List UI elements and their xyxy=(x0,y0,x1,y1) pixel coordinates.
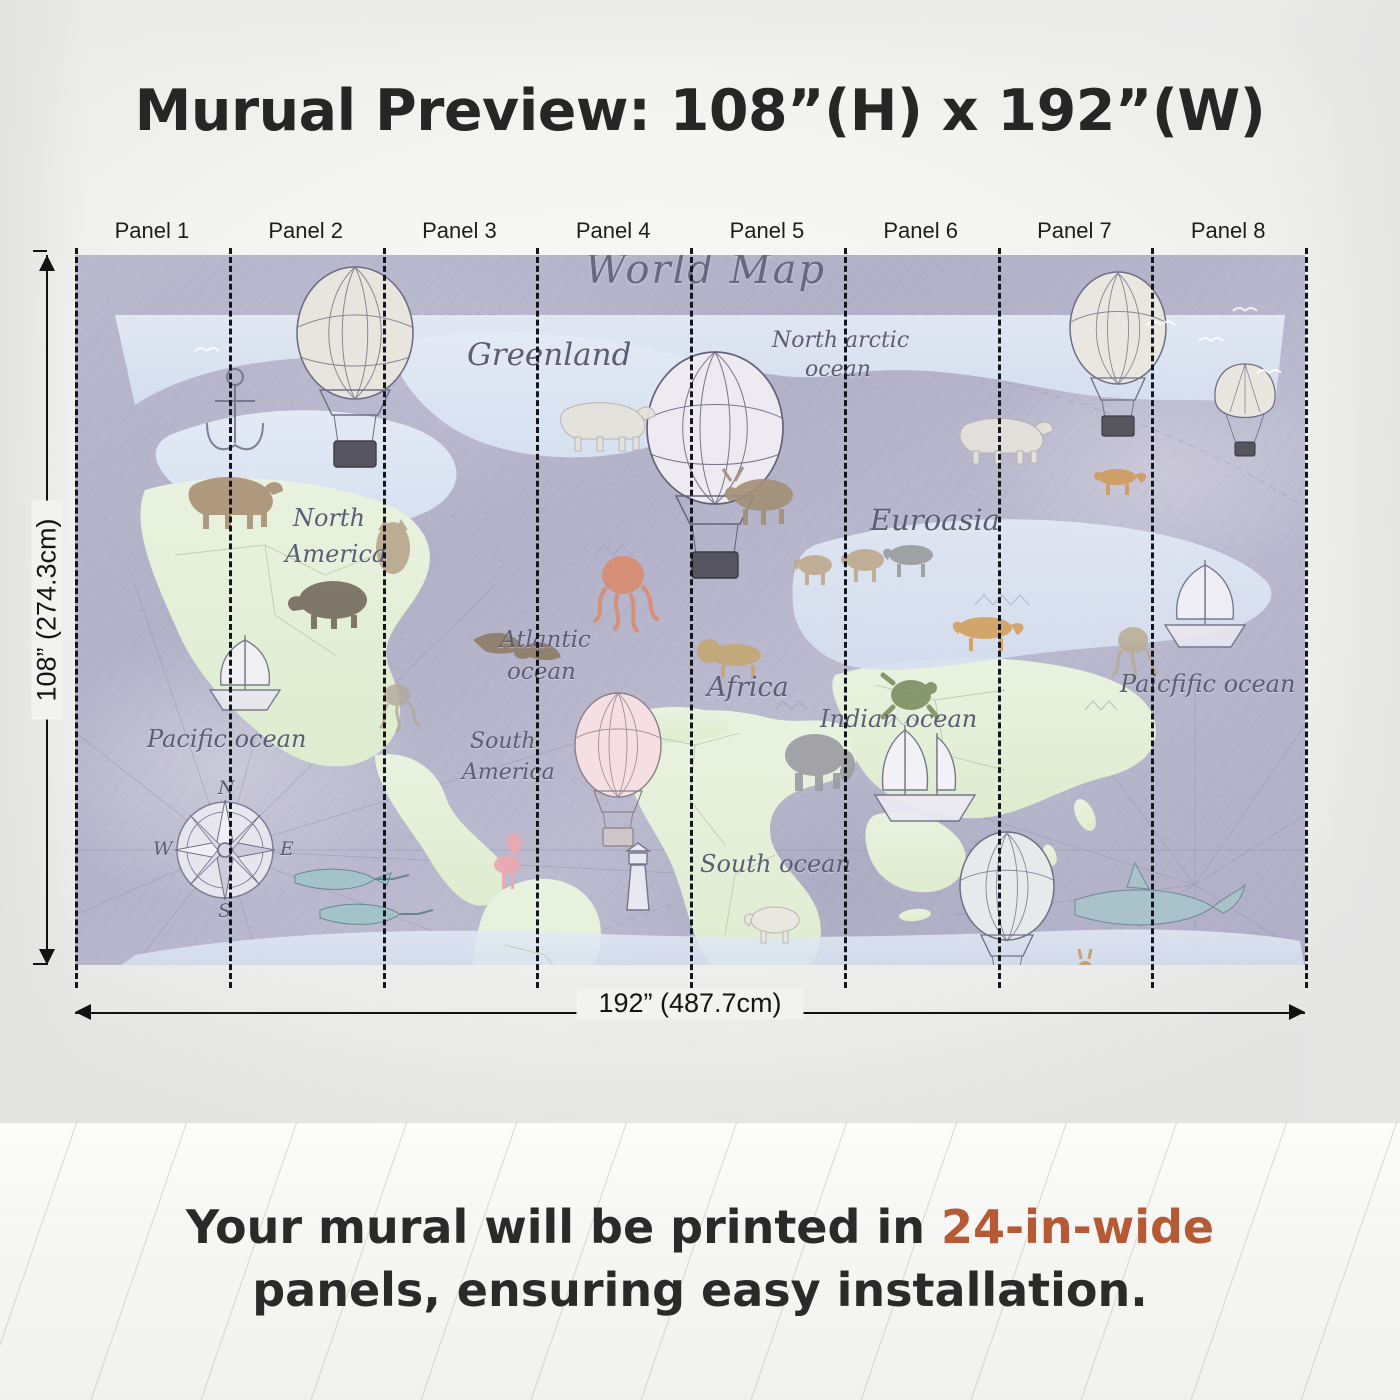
height-dimension-label: 108” (274.3cm) xyxy=(32,500,63,719)
panel-label-4: Panel 4 xyxy=(536,214,690,248)
height-tick-top xyxy=(33,250,47,252)
panel-divider-3 xyxy=(536,248,539,988)
panel-divider-2 xyxy=(383,248,386,988)
label-greenland: Greenland xyxy=(467,337,631,373)
deer-icon xyxy=(794,555,832,585)
panel-label-2: Panel 2 xyxy=(229,214,383,248)
panel-label-7: Panel 7 xyxy=(998,214,1152,248)
mural-preview-page: Murual Preview: 108”(H) x 192”(W) Panel … xyxy=(0,0,1400,1400)
fox-icon xyxy=(1094,469,1146,495)
flamingo-icon xyxy=(494,833,521,889)
footer-caption-line1-prefix: Your mural will be printed in xyxy=(186,1200,941,1254)
octopus-icon-2 xyxy=(381,684,419,731)
height-dimension: 108” (274.3cm) xyxy=(34,255,60,965)
polar-bear-icon xyxy=(561,403,655,451)
label-euroasia: Euroasia xyxy=(870,503,1000,537)
panel-divider-6 xyxy=(998,248,1001,988)
panel-label-5: Panel 5 xyxy=(690,214,844,248)
label-atlantic-ocean: Atlantic xyxy=(500,627,591,653)
height-tick-bottom xyxy=(33,963,47,965)
marlin-icon xyxy=(295,869,409,889)
panel-divider-5 xyxy=(844,248,847,988)
label-north-arctic-ocean: North arctic xyxy=(772,328,909,353)
label-pacific-ocean-left: Pacific ocean xyxy=(147,725,306,753)
compass-west-label: W xyxy=(153,838,173,860)
label-north-america: North xyxy=(293,504,365,532)
height-arrow-top xyxy=(39,255,55,271)
compass-east-label: E xyxy=(280,838,294,860)
footer-caption: Your mural will be printed in 24-in-wide… xyxy=(0,1196,1400,1322)
whale-shark-icon xyxy=(1075,863,1245,925)
panel-divider-8 xyxy=(1305,248,1308,988)
panel-divider-0 xyxy=(75,248,78,988)
label-south-ocean: South ocean xyxy=(700,850,851,878)
bear-icon xyxy=(189,477,283,529)
width-arrow-left xyxy=(75,1004,91,1020)
label-south-america-2: America xyxy=(462,760,555,785)
polar-bear-icon-2 xyxy=(960,418,1053,464)
label-north-america-2: America xyxy=(285,540,386,568)
map-title: World Map xyxy=(585,255,826,293)
antarctic-animal-icon xyxy=(745,907,799,943)
wall-shade-top xyxy=(0,0,1400,70)
page-title: Murual Preview: 108”(H) x 192”(W) xyxy=(0,78,1400,144)
label-pacific-ocean-right: Paicfific ocean xyxy=(1120,670,1295,698)
width-arrow-right xyxy=(1289,1004,1305,1020)
width-dimension-label: 192” (487.7cm) xyxy=(576,988,803,1019)
footer-caption-line2: panels, ensuring easy installation. xyxy=(0,1259,1400,1322)
label-africa: Africa xyxy=(707,672,789,703)
compass-north-label: N xyxy=(218,777,235,799)
panel-label-8: Panel 8 xyxy=(1151,214,1305,248)
panel-label-1: Panel 1 xyxy=(75,214,229,248)
tiger-icon xyxy=(953,617,1024,651)
octopus-icon xyxy=(595,556,657,631)
wolf-icon xyxy=(883,545,933,577)
panel-divider-4 xyxy=(690,248,693,988)
deer-icon-2 xyxy=(841,549,884,582)
label-south-america: South xyxy=(470,729,536,754)
label-north-arctic-ocean-2: ocean xyxy=(805,357,871,382)
moose-icon xyxy=(723,467,793,525)
width-dimension: 192” (487.7cm) xyxy=(75,1000,1305,1026)
muskox-icon xyxy=(288,581,367,629)
label-atlantic-ocean-2: ocean xyxy=(507,659,576,685)
panel-label-3: Panel 3 xyxy=(383,214,537,248)
panel-divider-7 xyxy=(1151,248,1154,988)
footer-caption-highlight: 24-in-wide xyxy=(941,1200,1214,1254)
panel-label-row: Panel 1 Panel 2 Panel 3 Panel 4 Panel 5 … xyxy=(75,214,1305,248)
kangaroo-icon xyxy=(1073,949,1116,965)
marlin-icon-2 xyxy=(320,904,433,924)
seabird-icons xyxy=(195,308,1281,373)
panel-label-6: Panel 6 xyxy=(844,214,998,248)
panel-divider-1 xyxy=(229,248,232,988)
